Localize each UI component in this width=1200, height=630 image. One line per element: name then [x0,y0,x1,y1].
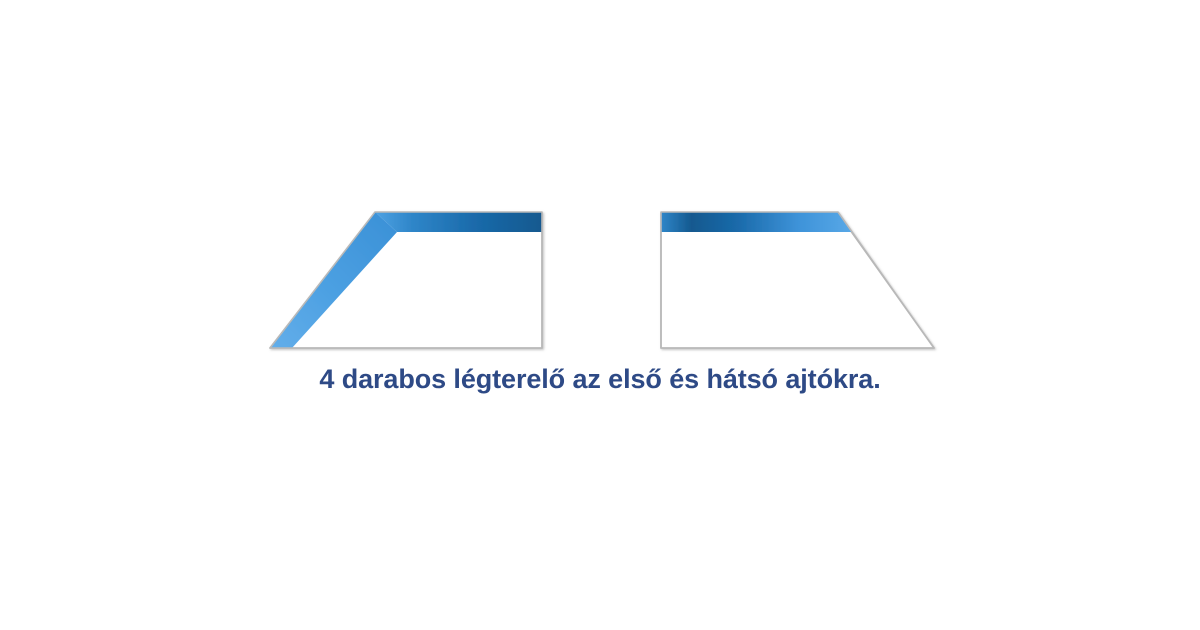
door-deflector-diagram: Légterelő szett – első és hátsó ajtó [0,0,1200,630]
front-door-top-band [375,212,542,232]
product-figure: Légterelő szett – első és hátsó ajtó [0,0,1200,630]
rear-door-deflector-shape [661,212,934,348]
product-caption: 4 darabos légterelő az első és hátsó ajt… [0,362,1200,396]
front-door-deflector-shape [270,212,542,348]
rear-door-panel [661,213,934,348]
front-door-panel [270,213,542,348]
rear-door-top-band [661,212,852,232]
